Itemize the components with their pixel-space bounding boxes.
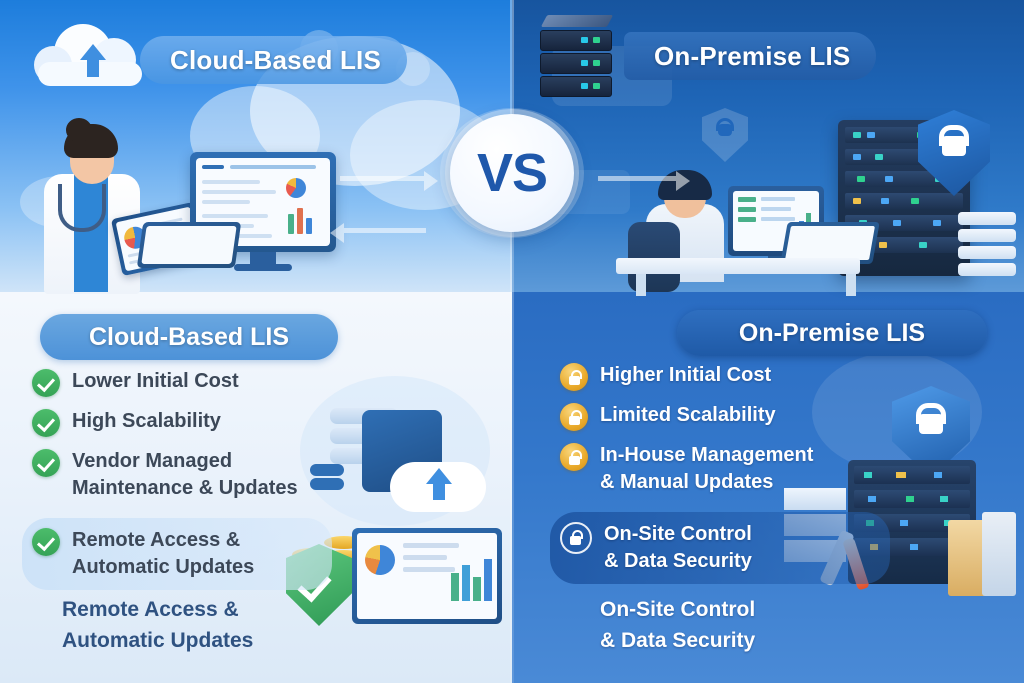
list-item-label: Vendor Managed Maintenance & Updates xyxy=(72,448,298,502)
list-item-line1: In-House Management xyxy=(600,444,813,466)
list-item-line2: & Data Security xyxy=(604,550,752,572)
cloud-decor xyxy=(20,176,100,228)
infographic-canvas: Cloud-Based LIS On-Premise LIS VS xyxy=(0,0,1024,683)
list-item[interactable]: In-House Management & Manual Updates xyxy=(560,442,890,496)
left-footer-line1: Remote Access & xyxy=(62,598,239,621)
list-item-label: In-House Management & Manual Updates xyxy=(600,442,813,496)
list-item-highlighted[interactable]: Remote Access & Automatic Updates xyxy=(22,518,332,590)
list-item-label: On-Site Control & Data Security xyxy=(604,521,752,575)
list-item-label: High Scalability xyxy=(72,408,221,435)
cloud-decor xyxy=(190,86,320,186)
gold-lock-icon xyxy=(560,403,588,431)
left-footer-line2: Automatic Updates xyxy=(62,629,253,652)
list-item-line1: Vendor Managed xyxy=(72,450,232,472)
list-item[interactable]: Limited Scalability xyxy=(560,402,890,431)
list-item-line2: Maintenance & Updates xyxy=(72,477,298,499)
storage-unit xyxy=(958,229,1016,242)
upload-arrow-stem xyxy=(433,482,445,500)
shield-lock-decor-icon xyxy=(702,108,748,162)
green-check-icon xyxy=(32,369,60,397)
storage-unit xyxy=(958,246,1016,259)
left-header: Cloud-Based LIS xyxy=(30,36,407,84)
gold-lock-icon xyxy=(560,363,588,391)
right-footer-note: On-Site Control & Data Security xyxy=(600,594,755,656)
file-boxes xyxy=(982,512,1016,596)
vs-badge: VS xyxy=(436,108,588,238)
arrow-right-icon xyxy=(598,176,676,181)
list-item-label: Higher Initial Cost xyxy=(600,362,771,389)
green-check-icon xyxy=(32,409,60,437)
list-item-line2: Automatic Updates xyxy=(72,556,254,578)
list-item[interactable]: High Scalability xyxy=(32,408,332,437)
left-footer-note: Remote Access & Automatic Updates xyxy=(62,594,253,656)
storage-unit xyxy=(958,212,1016,225)
green-check-icon xyxy=(32,449,60,477)
list-item-label: Limited Scalability xyxy=(600,402,776,429)
list-item[interactable]: Higher Initial Cost xyxy=(560,362,890,391)
right-header-title: On-Premise LIS xyxy=(624,32,876,80)
cloud-feature-list: Lower Initial Cost High Scalability Vend… xyxy=(32,368,332,601)
right-panel-title: On-Premise LIS xyxy=(677,310,987,356)
right-footer-line1: On-Site Control xyxy=(600,598,755,621)
list-item-highlighted[interactable]: On-Site Control & Data Security xyxy=(550,512,890,584)
vs-label: VS xyxy=(477,142,547,204)
cloud-comparison-panel: Cloud-Based LIS Lower Initial Cost High … xyxy=(0,292,512,683)
list-item[interactable]: Lower Initial Cost xyxy=(32,368,332,397)
laptop-illustration xyxy=(352,528,502,624)
left-header-title: Cloud-Based LIS xyxy=(140,36,407,84)
list-item-line1: On-Site Control xyxy=(604,523,752,545)
desk-surface xyxy=(616,258,860,274)
list-item[interactable]: Vendor Managed Maintenance & Updates xyxy=(32,448,332,502)
gold-lock-icon xyxy=(560,443,588,471)
right-footer-line2: & Data Security xyxy=(600,629,755,652)
outline-lock-icon xyxy=(560,522,592,554)
list-item-label: Lower Initial Cost xyxy=(72,368,239,395)
right-header: On-Premise LIS xyxy=(540,32,876,80)
arrow-left-icon xyxy=(344,228,426,233)
storage-unit xyxy=(958,263,1016,276)
arrow-right-icon xyxy=(340,176,424,181)
shield-lock-icon xyxy=(918,110,990,196)
list-item-line1: Remote Access & xyxy=(72,529,240,551)
list-item-line2: & Manual Updates xyxy=(600,471,773,493)
list-item-label: Remote Access & Automatic Updates xyxy=(72,527,254,581)
green-check-icon xyxy=(32,528,60,556)
onpremise-comparison-panel: On-Premise LIS Higher Initial Cost Limit… xyxy=(512,292,1024,683)
left-panel-title: Cloud-Based LIS xyxy=(40,314,338,360)
onpremise-feature-list: Higher Initial Cost Limited Scalability … xyxy=(560,362,890,595)
